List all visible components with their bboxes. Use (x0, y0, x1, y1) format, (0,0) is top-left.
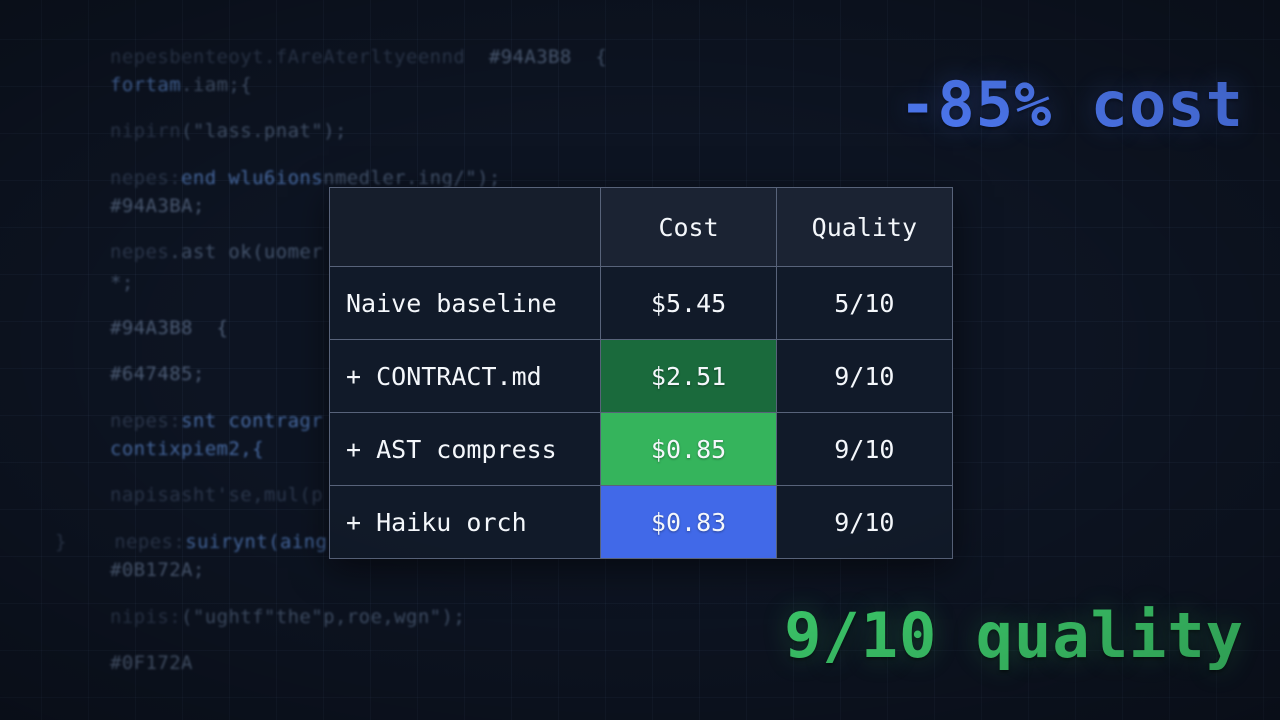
table-row: Naive baseline $5.45 5/10 (330, 267, 953, 340)
code-line: nepes:end wlu6ionsnmedler.ing/"); (110, 167, 501, 189)
code-line: fortam.iam;{ (110, 74, 252, 96)
code-line: nepes:snt contragr (110, 410, 323, 432)
table-row: + AST compress $0.85 9/10 (330, 413, 953, 486)
row-cost: $5.45 (601, 267, 776, 340)
row-quality: 9/10 (776, 340, 952, 413)
code-line: *; (110, 272, 134, 294)
row-cost-highlighted: $0.83 (601, 486, 776, 559)
column-header-cost: Cost (601, 188, 776, 267)
code-line: #0F172A (110, 652, 193, 674)
comparison-table-container: Cost Quality Naive baseline $5.45 5/10 +… (329, 187, 953, 558)
row-cost-highlighted: $0.85 (601, 413, 776, 486)
code-line: #94A3B8 { (110, 317, 228, 339)
row-label: + CONTRACT.md (330, 340, 601, 413)
code-line: nepes.ast ok(uomer (110, 241, 323, 263)
code-line: } nepes:suirynt(aing (55, 531, 327, 553)
column-header-label (330, 188, 601, 267)
row-quality: 5/10 (776, 267, 952, 340)
headline-quality-score: 9/10 quality (784, 599, 1244, 672)
row-label: Naive baseline (330, 267, 601, 340)
row-quality: 9/10 (776, 486, 952, 559)
code-line: #94A3BA; (110, 195, 205, 217)
comparison-table: Cost Quality Naive baseline $5.45 5/10 +… (329, 187, 953, 559)
screen-canvas: nepesbenteoyt.fAreAterltyeennd #94A3B8 {… (0, 0, 1280, 720)
row-quality: 9/10 (776, 413, 952, 486)
table-row: + CONTRACT.md $2.51 9/10 (330, 340, 953, 413)
code-line: napisasht'se,mul(p (110, 484, 323, 506)
code-line: nepesbenteoyt.fAreAterltyeennd #94A3B8 { (110, 46, 607, 68)
row-label: + AST compress (330, 413, 601, 486)
table-body: Naive baseline $5.45 5/10 + CONTRACT.md … (330, 267, 953, 559)
code-line: nipis:("ughtf"the"p,roe,wgn"); (110, 606, 465, 628)
row-label: + Haiku orch (330, 486, 601, 559)
table-header: Cost Quality (330, 188, 953, 267)
code-line: nipirn("lass.pnat"); (110, 120, 347, 142)
table-row: + Haiku orch $0.83 9/10 (330, 486, 953, 559)
column-header-quality: Quality (776, 188, 952, 267)
code-line: #0B172A; (110, 559, 205, 581)
row-cost-highlighted: $2.51 (601, 340, 776, 413)
code-line: contixpiem2,{ (110, 438, 264, 460)
headline-cost-reduction: -85% cost (899, 68, 1244, 141)
table-header-row: Cost Quality (330, 188, 953, 267)
code-line: #647485; (110, 363, 205, 385)
